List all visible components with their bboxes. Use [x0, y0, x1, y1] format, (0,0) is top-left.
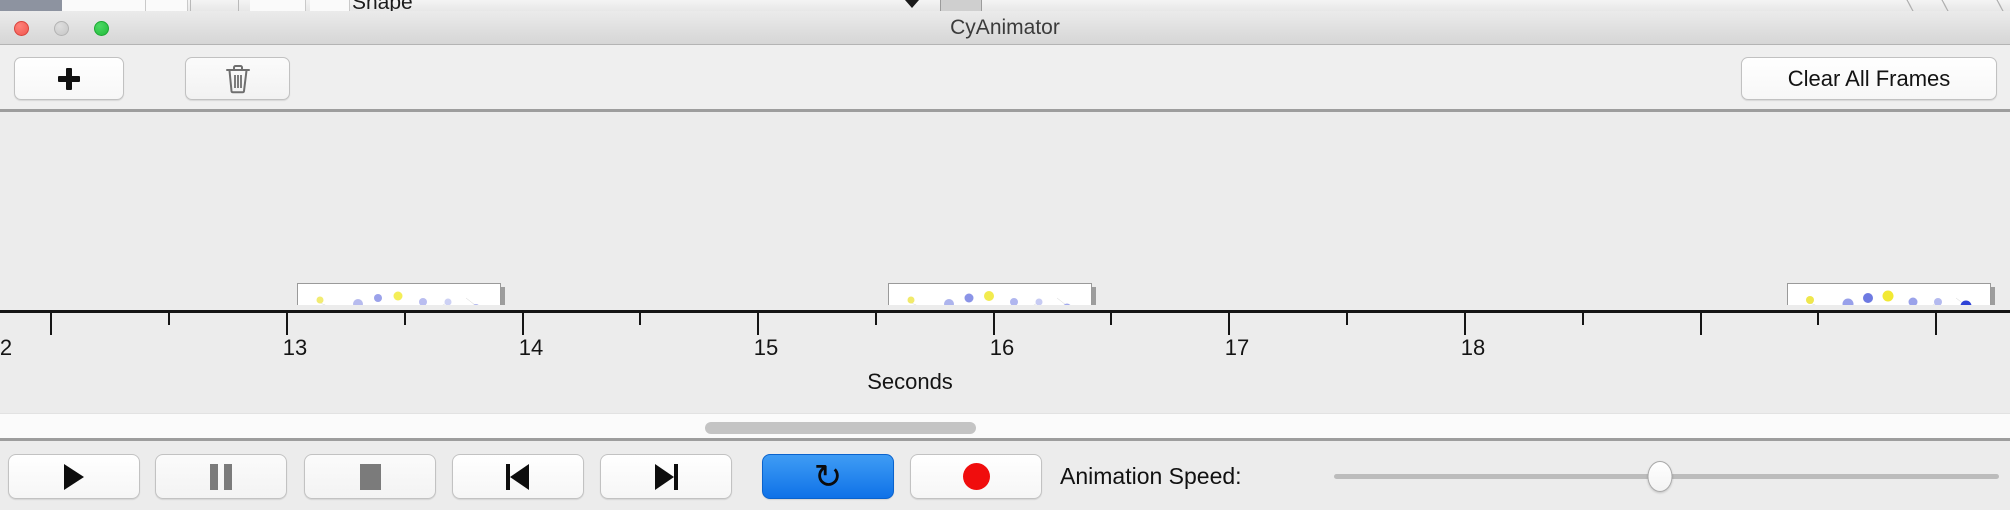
ruler-baseline: [0, 310, 2010, 313]
ruler-tick-minor: [404, 313, 406, 325]
skip-forward-icon: [654, 464, 678, 490]
ruler-tick-major: [1700, 313, 1702, 335]
window-title: CyAnimator: [0, 11, 2010, 45]
bg-sep: [190, 0, 191, 11]
add-frame-button[interactable]: [14, 57, 124, 100]
ruler-tick-minor: [875, 313, 877, 325]
stop-button[interactable]: [304, 454, 436, 499]
clear-all-frames-label: Clear All Frames: [1788, 66, 1951, 92]
bg-slash: [1940, 0, 1950, 11]
skip-to-end-button[interactable]: [600, 454, 732, 499]
frame-toolbar: Clear All Frames: [0, 45, 2010, 112]
bg-slash: [1905, 0, 1915, 11]
skip-to-start-button[interactable]: [452, 454, 584, 499]
window-titlebar[interactable]: CyAnimator: [0, 11, 2010, 45]
ruler-tick-major: [1464, 313, 1466, 335]
ruler-tick-major: [286, 313, 288, 335]
ruler-label: 17: [1225, 335, 1249, 361]
timeline-ruler[interactable]: 2 13 14 15 16 17 18 Seconds: [0, 305, 2010, 393]
ruler-tick-major: [993, 313, 995, 335]
ruler-label: 13: [283, 335, 307, 361]
bg-chip: [146, 0, 188, 11]
ruler-tick-minor: [1817, 313, 1819, 325]
ruler-tick-minor: [639, 313, 641, 325]
ruler-label: 15: [754, 335, 778, 361]
ruler-label: 16: [990, 335, 1014, 361]
bg-scroll-knob: [940, 0, 982, 11]
play-icon: [64, 464, 84, 490]
ruler-tick-minor: [1582, 313, 1584, 325]
record-icon: [963, 463, 990, 490]
ruler-label: 18: [1461, 335, 1485, 361]
ruler-tick-minor: [1346, 313, 1348, 325]
background-window-label: Shape: [352, 0, 413, 11]
ruler-tick-major: [50, 313, 52, 335]
loop-button[interactable]: ↻: [762, 454, 894, 499]
bg-slash: [1995, 0, 2005, 11]
pause-icon: [210, 464, 232, 490]
play-button[interactable]: [8, 454, 140, 499]
loop-icon: ↻: [814, 462, 843, 492]
background-window-strip: Shape: [0, 0, 2010, 11]
bg-sep: [238, 0, 239, 11]
stop-icon: [360, 464, 381, 490]
animation-speed-label: Animation Speed:: [1060, 454, 1242, 499]
clear-all-frames-button[interactable]: Clear All Frames: [1741, 57, 1997, 100]
animation-speed-slider[interactable]: [1334, 454, 1999, 499]
timeline-horizontal-scrollbar[interactable]: [0, 413, 2010, 441]
ruler-axis-title: Seconds: [0, 369, 1820, 395]
record-button[interactable]: [910, 454, 1042, 499]
bg-cursor-arrow-icon: [905, 0, 919, 8]
bg-chip: [310, 0, 350, 11]
ruler-label: 2: [0, 335, 12, 361]
trash-icon: [225, 64, 251, 94]
skip-back-icon: [506, 464, 530, 490]
ruler-tick-minor: [1110, 313, 1112, 325]
slider-thumb[interactable]: [1647, 461, 1672, 492]
plus-icon: [58, 68, 80, 90]
ruler-tick-major: [757, 313, 759, 335]
bg-chip: [62, 0, 146, 11]
playback-controls-bar: ↻ Animation Speed:: [0, 444, 2010, 510]
ruler-tick-minor: [168, 313, 170, 325]
bg-chip: [250, 0, 306, 11]
ruler-tick-major: [1228, 313, 1230, 335]
bg-chip-dark: [0, 0, 62, 11]
ruler-tick-major: [522, 313, 524, 335]
ruler-label: 14: [519, 335, 543, 361]
pause-button[interactable]: [155, 454, 287, 499]
delete-frame-button[interactable]: [185, 57, 290, 100]
scrollbar-thumb[interactable]: [705, 422, 976, 434]
ruler-tick-major: [1935, 313, 1937, 335]
